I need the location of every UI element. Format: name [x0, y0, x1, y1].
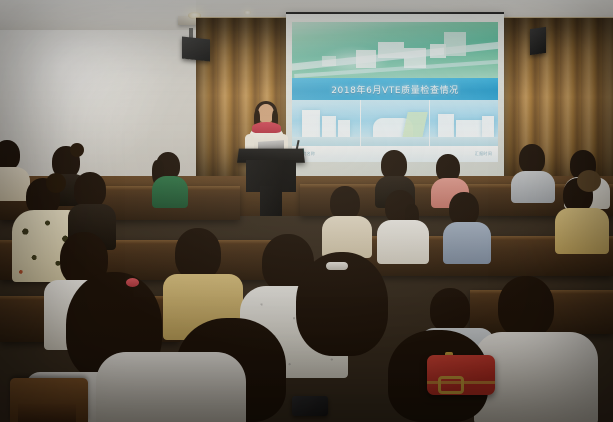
rendering-building	[456, 120, 482, 138]
slide-title-band: 2018年6月VTE质量检查情况	[292, 78, 498, 100]
rendering-building	[338, 120, 350, 138]
mobile-phone	[292, 396, 328, 416]
aerial-building	[356, 50, 376, 68]
rendering-ground	[430, 137, 498, 146]
attendee-torso	[377, 220, 429, 264]
wall-speaker-left	[182, 37, 210, 62]
presenter-collar	[252, 122, 281, 133]
attendee-torso	[96, 352, 246, 422]
attendee-head	[0, 140, 20, 170]
presentation-slide: 2018年6月VTE质量检查情况	[292, 22, 498, 162]
attendee-hair-bun	[46, 173, 66, 193]
attendee-torso	[443, 222, 491, 264]
hair-clip	[326, 262, 348, 270]
aerial-building	[404, 48, 426, 68]
rendering-building	[302, 110, 320, 138]
aerial-building	[378, 42, 404, 58]
attendee-hair-bun	[70, 143, 84, 157]
attendee-head	[519, 144, 545, 174]
slide-footer-right: 汇报时间	[475, 151, 492, 157]
slide-title: 2018年6月VTE质量检查情况	[331, 83, 459, 96]
attendee-torso	[511, 171, 555, 203]
rendering-building	[322, 116, 336, 138]
rendering-building	[482, 116, 494, 138]
attendee-hair-bun	[577, 170, 601, 192]
attendee-torso	[152, 176, 188, 208]
attendee-head	[498, 276, 554, 338]
slide-photo-1	[292, 100, 361, 146]
aerial-building	[322, 56, 336, 66]
conference-room-photo: 2018年6月VTE质量检查情况	[0, 0, 613, 422]
slide-photo-strip	[292, 100, 498, 146]
attendee-head	[430, 288, 470, 332]
slide-photo-3	[430, 100, 498, 146]
attendee-head	[175, 228, 221, 280]
rendering-ground	[292, 137, 360, 146]
wooden-chair-slat	[18, 404, 76, 422]
handbag-clasp	[438, 376, 464, 394]
slide-aerial-photo	[292, 22, 498, 78]
attendee-head	[74, 172, 106, 208]
hair-tie	[126, 278, 139, 287]
ceiling-spotlight-secondary	[244, 10, 251, 15]
lectern-column	[260, 186, 282, 216]
slide-photo-2	[361, 100, 430, 146]
rendering-building	[438, 114, 454, 138]
wall-speaker-right	[530, 27, 546, 55]
attendee-head	[330, 186, 360, 220]
aerial-building	[444, 32, 466, 56]
rendering-ground	[361, 137, 429, 146]
attendee-torso	[555, 208, 609, 254]
attendee-head	[449, 192, 479, 226]
